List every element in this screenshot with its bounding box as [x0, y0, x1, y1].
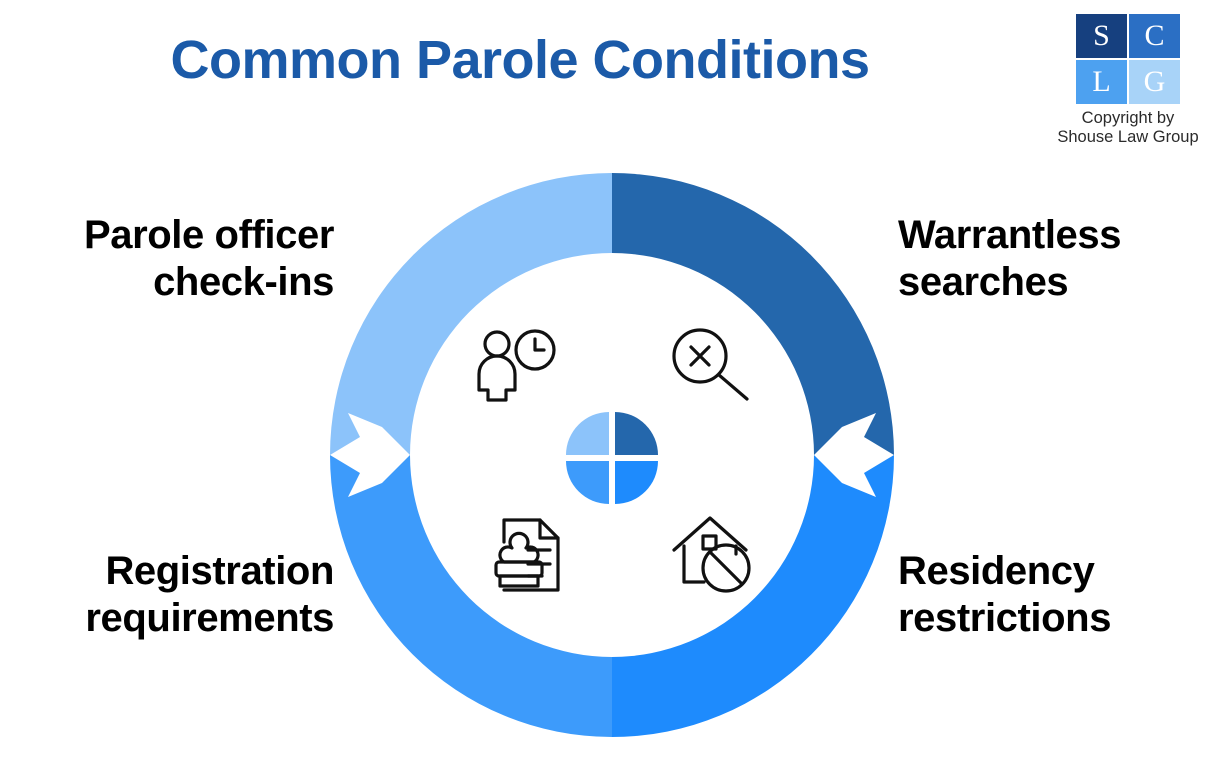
page-title: Common Parole Conditions: [0, 33, 1040, 87]
house-prohibited-icon: [658, 505, 768, 605]
hub-quadrant-searches: [615, 412, 658, 455]
label-register-line2: requirements: [0, 595, 334, 642]
label-registration-requirements: Registration requirements: [0, 548, 334, 642]
copyright-line-1: Copyright by: [1050, 109, 1206, 128]
copyright-line-2: Shouse Law Group: [1050, 128, 1206, 147]
hub-quadrant-checkins: [566, 412, 609, 455]
label-parole-officer-check-ins: Parole officer check-ins: [0, 212, 334, 306]
label-residency-restrictions: Residency restrictions: [898, 548, 1206, 642]
person-clock-icon: [462, 315, 572, 415]
label-checkins-line2: check-ins: [0, 259, 334, 306]
logo-cell-g: G: [1129, 60, 1180, 104]
parole-conditions-donut: [312, 155, 912, 755]
document-stamp-icon: [470, 505, 580, 605]
label-checkins-line1: Parole officer: [0, 212, 334, 259]
donut-svg: [312, 155, 912, 755]
logo-cell-s: S: [1076, 14, 1127, 58]
label-register-line1: Registration: [0, 548, 334, 595]
logo-grid: S C L G: [1076, 14, 1180, 104]
hub-quadrant-residency: [615, 461, 658, 504]
hub-quadrant-registration: [566, 461, 609, 504]
center-hub: [566, 412, 658, 504]
label-residency-line2: restrictions: [898, 595, 1206, 642]
label-warrantless-searches: Warrantless searches: [898, 212, 1206, 306]
label-searches-line1: Warrantless: [898, 212, 1206, 259]
logo-cell-c: C: [1129, 14, 1180, 58]
label-searches-line2: searches: [898, 259, 1206, 306]
logo-cell-l: L: [1076, 60, 1127, 104]
copyright-caption: Copyright by Shouse Law Group: [1050, 109, 1206, 147]
label-residency-line1: Residency: [898, 548, 1206, 595]
magnifier-x-icon: [655, 315, 765, 415]
logo-block: S C L G Copyright by Shouse Law Group: [1050, 14, 1206, 147]
infographic-page: Common Parole Conditions S C L G Copyrig…: [0, 0, 1206, 759]
